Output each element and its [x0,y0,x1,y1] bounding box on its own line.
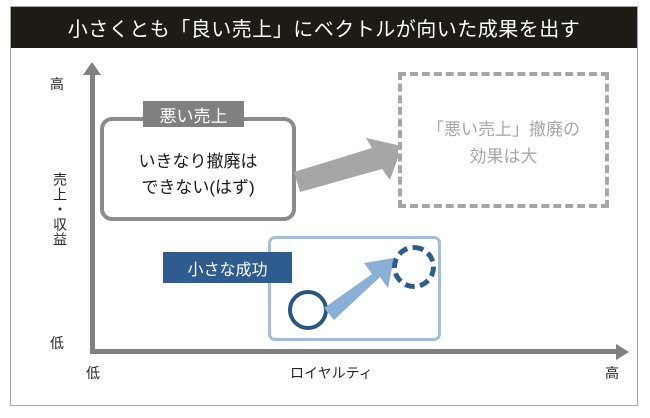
y-axis-line [90,72,95,354]
x-axis-high-label: 高 [605,363,619,383]
bad-sales-box: いきなり撤廃は できない(はず) [100,117,296,221]
y-axis-low-label: 低 [50,333,64,353]
x-axis-line [90,349,619,354]
effect-box: 「悪い売上」撤廃の 効果は大 [398,72,609,208]
effect-text: 「悪い売上」撤廃の 効果は大 [402,116,605,170]
start-circle-icon [288,290,328,330]
x-axis-title: ロイヤルティ [290,363,373,383]
bad-sales-body: いきなり撤廃は できない(はず) [104,149,292,201]
effect-line-2: 効果は大 [402,143,605,170]
title-bar: 小さくとも「良い売上」にベクトルが向いた成果を出す [11,7,637,48]
blue-block-arrow-icon [324,258,398,320]
bad-sales-line-1: いきなり撤廃は [104,149,292,175]
effect-line-1: 「悪い売上」撤廃の [402,116,605,143]
x-axis-arrow-icon [616,344,629,360]
page-title: 小さくとも「良い売上」にベクトルが向いた成果を出す [68,13,581,42]
small-success-tag: 小さな成功 [163,252,292,283]
x-axis-low-label: 低 [86,363,100,383]
bad-sales-tag: 悪い売上 [143,101,244,127]
bad-sales-line-2: できない(はず) [104,175,292,201]
y-axis-high-label: 高 [50,74,64,94]
gray-block-arrow-icon [294,138,402,194]
y-axis-title: 売上・収益 [48,172,68,247]
target-circle-icon [392,245,436,289]
slide-canvas: 小さくとも「良い売上」にベクトルが向いた成果を出す 高 低 売上・収益 低 ロイ… [0,0,650,418]
y-axis-arrow-icon [83,62,101,75]
